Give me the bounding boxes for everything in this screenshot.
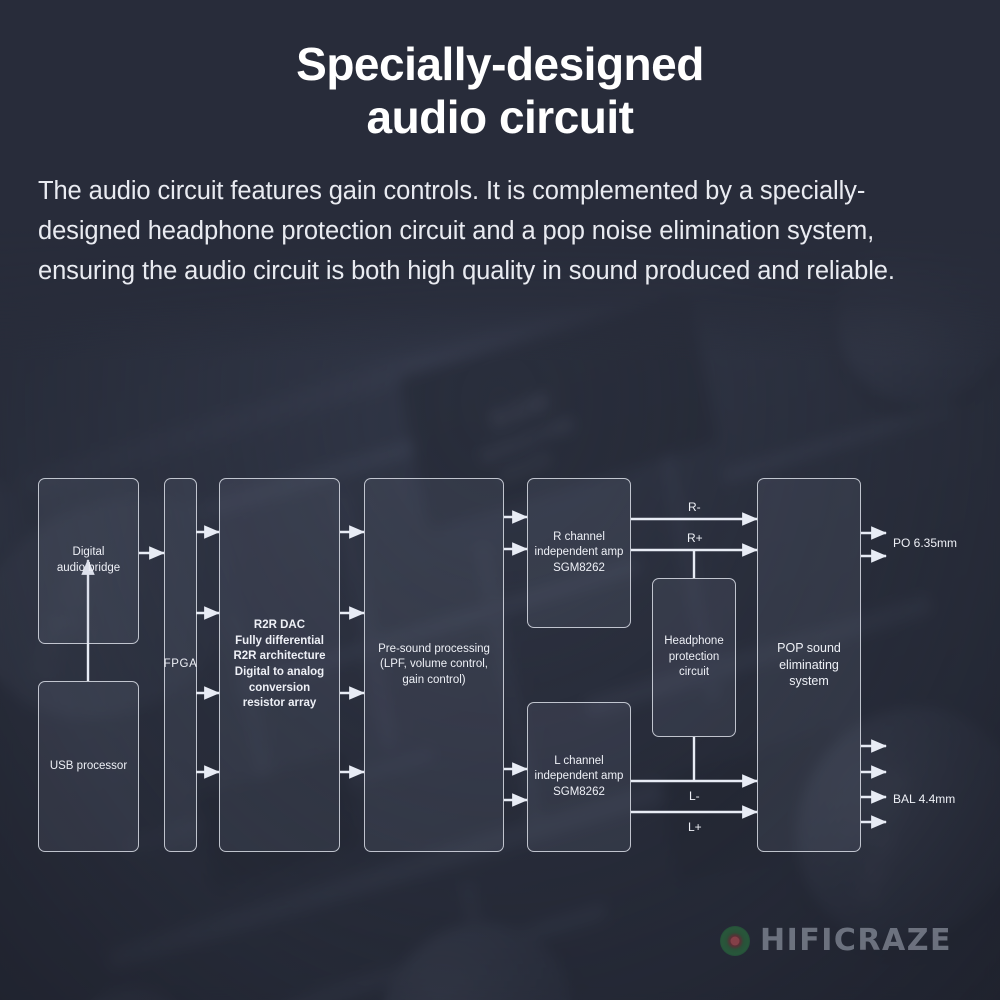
node-headphone-protection-circuit[interactable]: Headphone protection circuit xyxy=(652,578,736,737)
output-label-bal: BAL 4.4mm xyxy=(893,792,955,806)
page-root: SGM 82622Y9B 2412C 100 25V 100 16V Speci… xyxy=(0,0,1000,1000)
signal-label-r-minus: R- xyxy=(688,500,701,514)
node-pop-sound-eliminating-system-label: POP sound eliminating system xyxy=(777,640,841,691)
node-digital-audio-bridge-label: Digital audio bridge xyxy=(57,545,120,576)
node-r-channel-amp[interactable]: R channel independent amp SGM8262 xyxy=(527,478,631,628)
signal-label-r-plus: R+ xyxy=(687,531,703,545)
node-pre-sound-processing-label: Pre-sound processing (LPF, volume contro… xyxy=(378,642,490,689)
node-r-channel-amp-label: R channel independent amp SGM8262 xyxy=(535,530,624,577)
node-usb-processor[interactable]: USB processor xyxy=(38,681,139,852)
node-fpga[interactable]: FPGA xyxy=(164,478,197,852)
node-r2r-dac[interactable]: R2R DAC Fully differential R2R architect… xyxy=(219,478,340,852)
brand-watermark: HIFICRAZE xyxy=(720,923,952,958)
brand-name: HIFICRAZE xyxy=(760,923,952,958)
node-headphone-protection-circuit-label: Headphone protection circuit xyxy=(657,634,731,681)
signal-label-l-plus: L+ xyxy=(688,820,702,834)
node-digital-audio-bridge[interactable]: Digital audio bridge xyxy=(38,478,139,644)
node-pop-sound-eliminating-system[interactable]: POP sound eliminating system xyxy=(757,478,861,852)
node-fpga-label: FPGA xyxy=(164,657,198,673)
signal-label-l-minus: L- xyxy=(689,789,700,803)
output-label-po: PO 6.35mm xyxy=(893,536,957,550)
node-usb-processor-label: USB processor xyxy=(50,759,127,775)
target-icon xyxy=(720,926,750,956)
node-l-channel-amp[interactable]: L channel independent amp SGM8262 xyxy=(527,702,631,852)
block-diagram: Digital audio bridge USB processor FPGA … xyxy=(0,0,1000,1000)
node-r2r-dac-label: R2R DAC Fully differential R2R architect… xyxy=(233,618,325,711)
node-pre-sound-processing[interactable]: Pre-sound processing (LPF, volume contro… xyxy=(364,478,504,852)
node-l-channel-amp-label: L channel independent amp SGM8262 xyxy=(535,754,624,801)
